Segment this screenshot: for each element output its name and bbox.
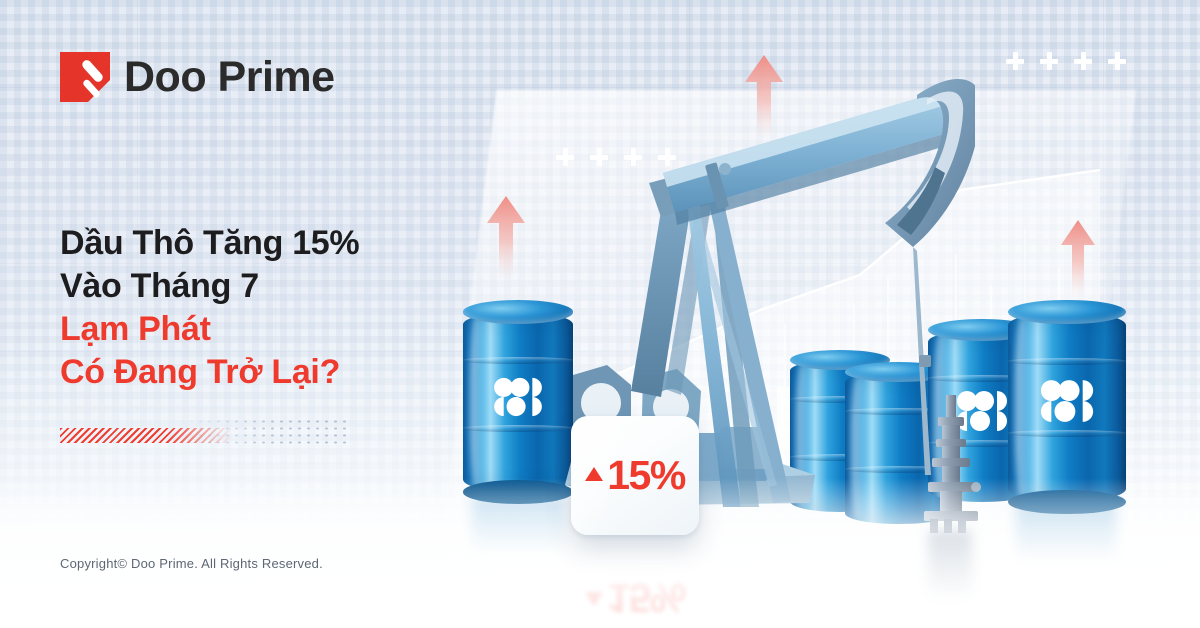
opec-logo-icon [491,376,545,418]
percent-badge-card: 15% [571,416,699,535]
accent-hatch-bar [60,428,232,443]
up-triangle-icon [585,467,603,481]
barrel-right [1008,312,1126,502]
accent-divider [60,418,350,452]
headline-line-3: Lạm Phát [60,308,480,351]
headline-line-2: Vào Tháng 7 [60,265,480,308]
brand-name: Doo Prime [124,56,335,99]
copyright-text: Copyright© Doo Prime. All Rights Reserve… [60,556,323,571]
headline-line-1: Dầu Thô Tăng 15% [60,222,480,265]
percent-badge-value: 15% [607,455,685,496]
up-triangle-icon-reflection [585,592,603,606]
wellhead-reflection [928,530,972,600]
doo-prime-logo-mark-icon [60,52,110,102]
headline: Dầu Thô Tăng 15% Vào Tháng 7 Lạm Phát Có… [60,222,480,394]
percent-badge-reflection: 15% [571,548,699,618]
brand-logo[interactable]: Doo Prime [60,52,335,102]
barrel-reflection-left [472,494,564,554]
barrel-reflection-right [1016,500,1116,562]
headline-line-4: Có Đang Trở Lại? [60,351,480,394]
opec-logo-icon [1037,378,1097,424]
promo-banner: 15% 15% Doo Prime Dầu Thô Tăng 15% Vào T… [0,0,1200,628]
percent-badge-value-reflection: 15% [607,577,685,618]
